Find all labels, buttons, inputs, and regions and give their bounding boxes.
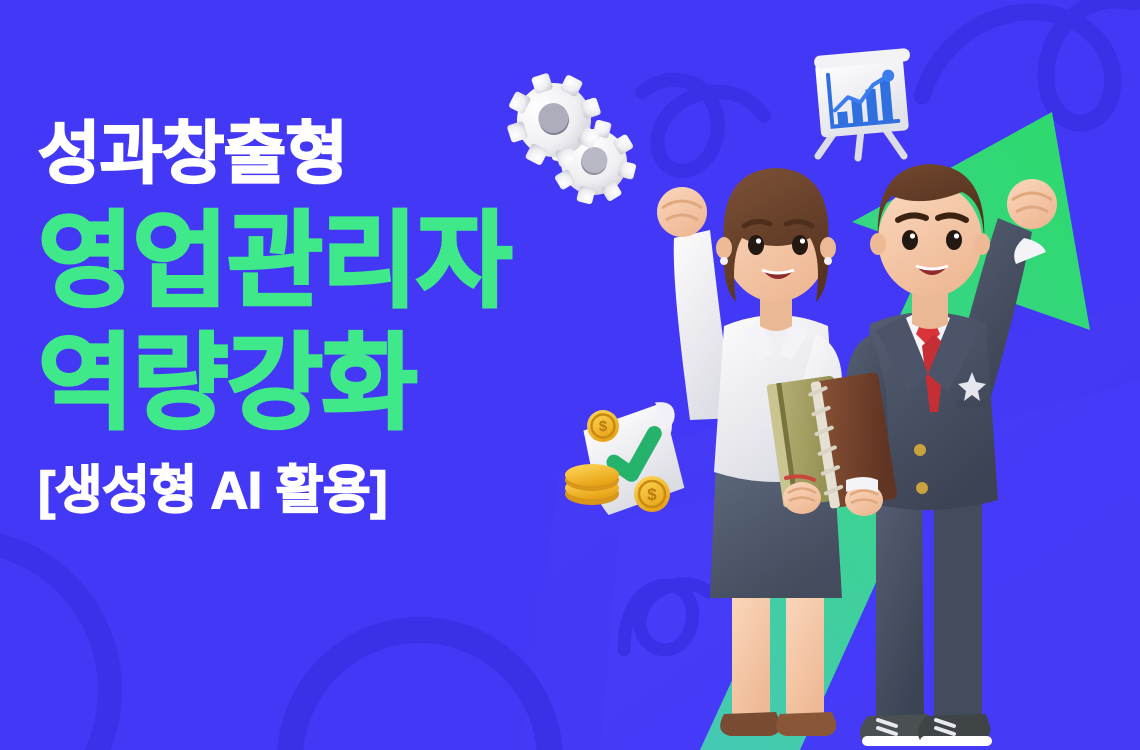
headline-text-block: 성과창출형 영업관리자 역량강화 [생성형 AI 활용] [38, 112, 658, 524]
headline-line-2: 역량강화 [38, 324, 658, 444]
promo-banner: 성과창출형 영업관리자 역량강화 [생성형 AI 활용] [0, 0, 1140, 750]
eyebrow-text: 성과창출형 [38, 112, 658, 196]
headline-line-1: 영업관리자 [38, 202, 658, 322]
subtitle-text: [생성형 AI 활용] [38, 458, 658, 524]
male-sales-manager [808, 164, 1057, 746]
presentation-chart-icon [800, 38, 922, 164]
